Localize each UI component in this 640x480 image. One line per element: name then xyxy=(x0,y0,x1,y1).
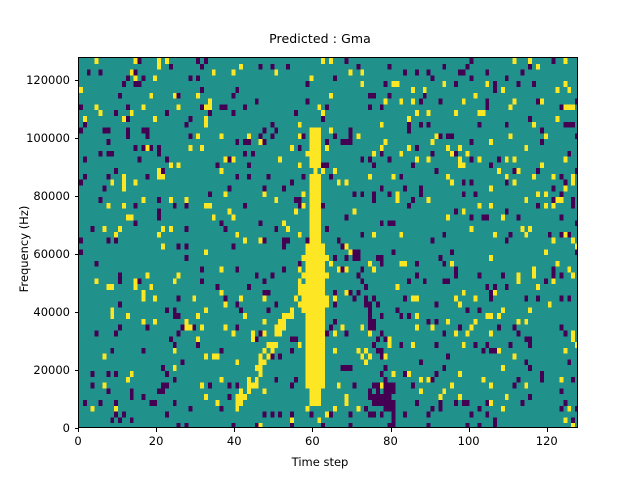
x-tick-mark xyxy=(234,428,235,432)
x-axis-label: Time step xyxy=(0,455,640,469)
x-tick-label: 40 xyxy=(227,434,242,448)
x-tick-label: 80 xyxy=(383,434,398,448)
y-tick-label: 60000 xyxy=(0,247,70,261)
y-tick-label: 120000 xyxy=(0,73,70,87)
x-tick-label: 20 xyxy=(149,434,164,448)
x-tick-mark xyxy=(547,428,548,432)
x-tick-mark xyxy=(78,428,79,432)
x-tick-mark xyxy=(469,428,470,432)
spectrogram-heatmap xyxy=(79,58,578,428)
x-tick-mark xyxy=(156,428,157,432)
x-tick-label: 0 xyxy=(74,434,81,448)
y-tick-label: 80000 xyxy=(0,189,70,203)
x-tick-label: 120 xyxy=(536,434,558,448)
y-tick-label: 100000 xyxy=(0,131,70,145)
x-tick-label: 100 xyxy=(458,434,480,448)
page-title: Predicted : Gma xyxy=(0,31,640,46)
y-tick-label: 40000 xyxy=(0,305,70,319)
x-tick-mark xyxy=(391,428,392,432)
matplotlib-figure: Predicted : Gma Frequency (Hz) Time step… xyxy=(0,0,640,480)
x-tick-label: 60 xyxy=(305,434,320,448)
x-tick-mark xyxy=(312,428,313,432)
y-tick-label: 20000 xyxy=(0,363,70,377)
y-tick-label: 0 xyxy=(0,421,70,435)
heatmap-axes xyxy=(78,57,578,428)
